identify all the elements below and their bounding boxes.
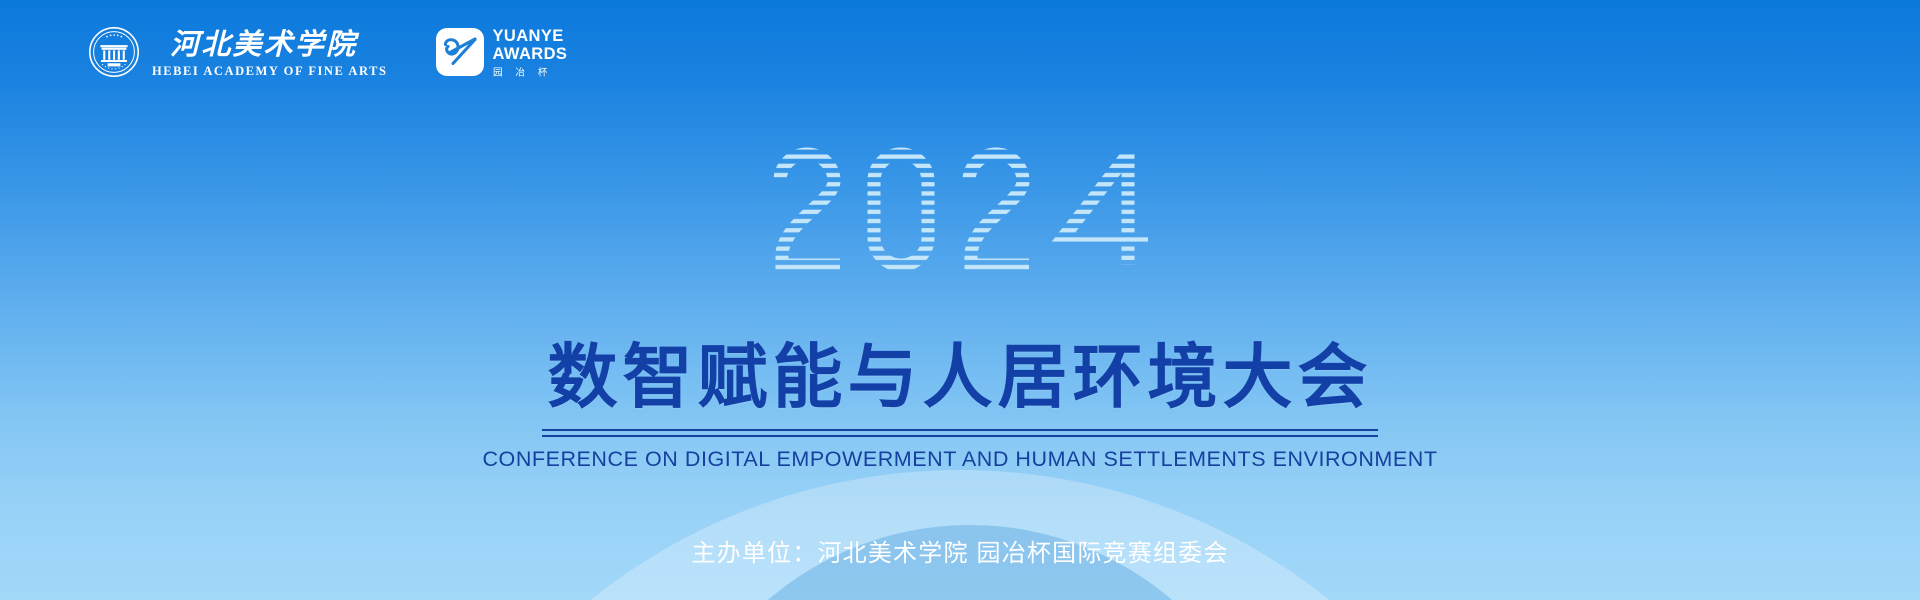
hero-title-block: 数智赋能与人居环境大会 CONFERENCE ON DIGITAL EMPOWE… bbox=[0, 340, 1920, 472]
yuanye-line-2: AWARDS bbox=[493, 46, 570, 63]
yuanye-name-cn-text: 园 冶 杯 bbox=[493, 66, 552, 76]
year-graphic: 2024 bbox=[0, 135, 1920, 280]
hebei-academy-logo: 河北美术学院 HEBEI ACADEMY OF FINE ARTS bbox=[88, 26, 388, 78]
conference-title-cn: 数智赋能与人居环境大会 bbox=[548, 340, 1373, 416]
hebei-academy-name-en: HEBEI ACADEMY OF FINE ARTS bbox=[152, 65, 388, 78]
yuanye-awards-logo: YUANYE AWARDS 园 冶 杯 bbox=[436, 28, 570, 77]
yuanye-leaf-mark-icon bbox=[436, 28, 484, 76]
title-divider-line-2 bbox=[542, 435, 1378, 437]
conference-banner: 河北美术学院 HEBEI ACADEMY OF FINE ARTS YUANYE… bbox=[0, 0, 1920, 600]
hebei-academy-wordmark: 河北美术学院 HEBEI ACADEMY OF FINE ARTS bbox=[152, 27, 388, 78]
conference-title-en: CONFERENCE ON DIGITAL EMPOWERMENT AND HU… bbox=[482, 447, 1437, 472]
yuanye-line-1: YUANYE bbox=[493, 28, 570, 45]
title-divider bbox=[542, 429, 1378, 437]
hebei-academy-seal-icon bbox=[88, 26, 140, 78]
hebei-academy-name-cn-icon: 河北美术学院 bbox=[170, 27, 370, 61]
logo-bar: 河北美术学院 HEBEI ACADEMY OF FINE ARTS YUANYE… bbox=[88, 26, 570, 78]
year-2024-icon: 2024 bbox=[760, 135, 1160, 280]
title-divider-line-1 bbox=[542, 429, 1378, 431]
hebei-academy-name-cn-text: 河北美术学院 bbox=[170, 28, 360, 61]
yuanye-name-cn-icon: 园 冶 杯 bbox=[493, 66, 570, 77]
yuanye-awards-wordmark: YUANYE AWARDS 园 冶 杯 bbox=[493, 28, 570, 77]
organizer-line: 主办单位：河北美术学院 园冶杯国际竞赛组委会 bbox=[0, 533, 1920, 568]
